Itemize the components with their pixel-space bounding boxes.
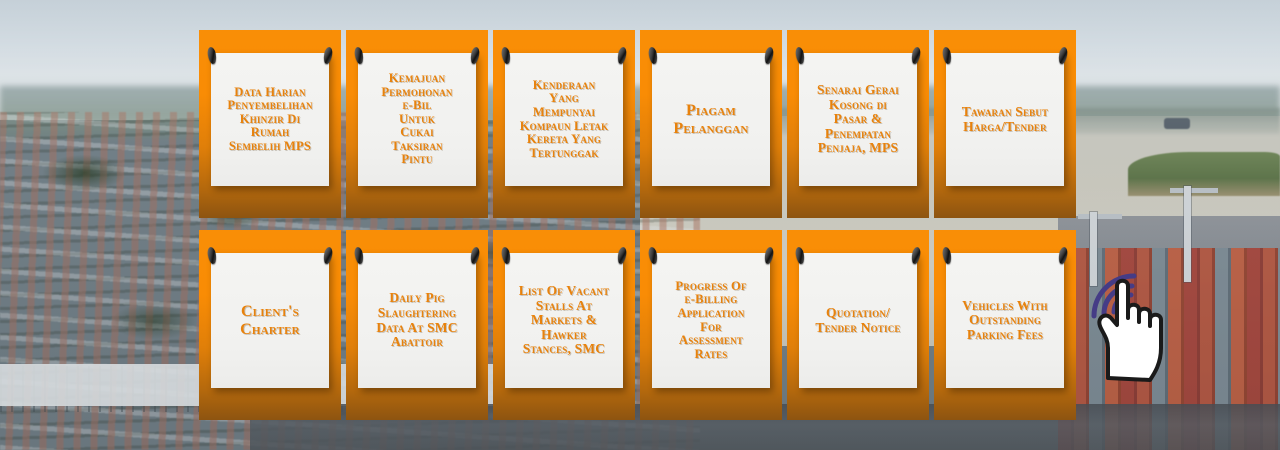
- card-paper[interactable]: List Of Vacant Stalls At Markets & Hawke…: [505, 253, 623, 388]
- card-paper[interactable]: Daily Pig Slaughtering Data At SMC Abatt…: [358, 253, 476, 388]
- quick-link-card[interactable]: Daily Pig Slaughtering Data At SMC Abatt…: [346, 230, 488, 420]
- card-title: Tawaran Sebut Harga/Tender: [962, 105, 1049, 134]
- quick-link-grid: Data Harian Penyembelihan Khinzir Di Rum…: [199, 30, 1079, 420]
- card-paper[interactable]: Kenderaan Yang Mempunyai Kompaun Letak K…: [505, 53, 623, 186]
- quick-link-card[interactable]: Kemajuan Permohonan e-Bil Untuk Cukai Ta…: [346, 30, 488, 218]
- card-title: Senarai Gerai Kosong di Pasar & Penempat…: [817, 83, 899, 156]
- pin-icon: [911, 46, 922, 64]
- card-paper[interactable]: Quotation/ Tender Notice: [799, 253, 917, 388]
- card-title: Daily Pig Slaughtering Data At SMC Abatt…: [376, 291, 457, 349]
- crane-arm: [1170, 188, 1218, 193]
- quick-link-card[interactable]: Piagam Pelanggan: [640, 30, 782, 218]
- pin-icon: [323, 246, 334, 264]
- card-paper[interactable]: Tawaran Sebut Harga/Tender: [946, 53, 1064, 186]
- pin-icon: [1058, 46, 1069, 64]
- port-crane: [1090, 212, 1097, 286]
- card-title: List Of Vacant Stalls At Markets & Hawke…: [519, 284, 610, 357]
- pin-icon: [617, 246, 628, 264]
- quick-link-card[interactable]: Vehicles With Outstanding Parking Fees: [934, 230, 1076, 420]
- pin-icon: [354, 46, 365, 64]
- quick-link-card[interactable]: Senarai Gerai Kosong di Pasar & Penempat…: [787, 30, 929, 218]
- card-title: Vehicles With Outstanding Parking Fees: [962, 299, 1048, 343]
- pin-icon: [207, 246, 218, 264]
- pin-icon: [501, 46, 512, 64]
- card-title: Progress Of e-Billing Application For As…: [675, 280, 746, 362]
- pin-icon: [795, 246, 806, 264]
- pin-icon: [942, 46, 953, 64]
- quick-link-card[interactable]: Progress Of e-Billing Application For As…: [640, 230, 782, 420]
- card-title: Piagam Pelanggan: [673, 102, 748, 137]
- pin-icon: [354, 246, 365, 264]
- pin-icon: [470, 246, 481, 264]
- pin-icon: [323, 46, 334, 64]
- barge-boat: [1164, 118, 1190, 129]
- card-paper[interactable]: Senarai Gerai Kosong di Pasar & Penempat…: [799, 53, 917, 186]
- card-title: Client's Charter: [240, 303, 300, 338]
- pin-icon: [1058, 246, 1069, 264]
- quick-link-card[interactable]: Client's Charter: [199, 230, 341, 420]
- quick-link-card[interactable]: List Of Vacant Stalls At Markets & Hawke…: [493, 230, 635, 420]
- card-paper[interactable]: Data Harian Penyembelihan Khinzir Di Rum…: [211, 53, 329, 186]
- port-crane: [1184, 186, 1191, 282]
- quick-link-card[interactable]: Kenderaan Yang Mempunyai Kompaun Letak K…: [493, 30, 635, 218]
- page-stage: Data Harian Penyembelihan Khinzir Di Rum…: [0, 0, 1280, 450]
- pin-icon: [764, 246, 775, 264]
- pin-icon: [470, 46, 481, 64]
- card-title: Kemajuan Permohonan e-Bil Untuk Cukai Ta…: [381, 72, 452, 167]
- card-paper[interactable]: Kemajuan Permohonan e-Bil Untuk Cukai Ta…: [358, 53, 476, 186]
- pin-icon: [911, 246, 922, 264]
- pin-icon: [764, 46, 775, 64]
- card-paper[interactable]: Vehicles With Outstanding Parking Fees: [946, 253, 1064, 388]
- quick-link-card[interactable]: Quotation/ Tender Notice: [787, 230, 929, 420]
- card-title: Quotation/ Tender Notice: [815, 306, 900, 335]
- card-paper[interactable]: Piagam Pelanggan: [652, 53, 770, 186]
- pin-icon: [207, 46, 218, 64]
- card-paper[interactable]: Progress Of e-Billing Application For As…: [652, 253, 770, 388]
- quick-link-card[interactable]: Tawaran Sebut Harga/Tender: [934, 30, 1076, 218]
- quick-link-card[interactable]: Data Harian Penyembelihan Khinzir Di Rum…: [199, 30, 341, 218]
- pin-icon: [501, 246, 512, 264]
- card-title: Kenderaan Yang Mempunyai Kompaun Letak K…: [520, 79, 609, 161]
- pin-icon: [648, 46, 659, 64]
- pin-icon: [617, 46, 628, 64]
- pin-icon: [648, 246, 659, 264]
- card-paper[interactable]: Client's Charter: [211, 253, 329, 388]
- pin-icon: [795, 46, 806, 64]
- card-title: Data Harian Penyembelihan Khinzir Di Rum…: [227, 86, 312, 154]
- crane-arm: [1078, 214, 1122, 219]
- pin-icon: [942, 246, 953, 264]
